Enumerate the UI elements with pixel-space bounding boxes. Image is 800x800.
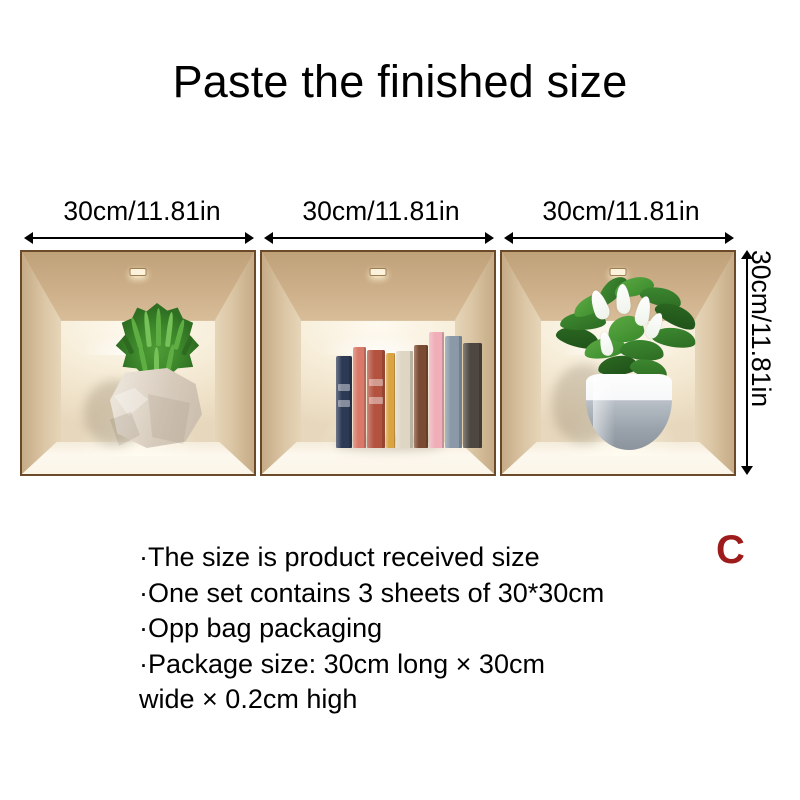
- book-spine-highlight: [414, 345, 419, 448]
- book-spine: [396, 351, 413, 448]
- book-spine-band: [338, 384, 351, 391]
- book-spine-highlight: [445, 336, 451, 448]
- width-arrow-panel-2: [264, 232, 494, 244]
- book-spine-highlight: [386, 353, 389, 448]
- note-line: wide × 0.2cm high: [139, 682, 739, 718]
- niche-floor: [22, 442, 254, 474]
- book-spine-edge: [459, 336, 462, 448]
- book-spine: [336, 356, 352, 448]
- book-spine: [353, 347, 366, 448]
- book-spine-edge: [410, 351, 413, 448]
- book-row: [262, 328, 494, 448]
- book-spine-band: [369, 397, 383, 404]
- niche-panel-3: [500, 250, 736, 476]
- width-arrow-panel-1: [24, 232, 254, 244]
- arrow-head-right-icon: [245, 232, 254, 244]
- product-size-infographic: Paste the finished size 30cm/11.81in 30c…: [0, 0, 800, 800]
- page-title: Paste the finished size: [0, 56, 800, 108]
- arrow-head-right-icon: [725, 232, 734, 244]
- book-spine-band: [338, 400, 351, 407]
- ceiling-spotlight-icon: [130, 268, 147, 276]
- width-label-panel-2: 30cm/11.81in: [259, 196, 503, 226]
- arrow-head-right-icon: [485, 232, 494, 244]
- book-spine: [414, 345, 428, 448]
- note-line: ·The size is product received size: [139, 540, 739, 576]
- niche-ceiling: [262, 252, 494, 321]
- book-spine-highlight: [353, 347, 358, 448]
- width-label-panel-3: 30cm/11.81in: [499, 196, 743, 226]
- book-spine-edge: [364, 347, 366, 448]
- note-line: ·Opp bag packaging: [139, 611, 739, 647]
- book-spine-edge: [394, 353, 395, 448]
- ceiling-spotlight-icon: [370, 268, 387, 276]
- ceiling-spotlight-icon: [610, 268, 627, 276]
- book-spine-edge: [442, 332, 444, 448]
- niche-panel-2: [260, 250, 496, 476]
- book-spine: [367, 350, 385, 448]
- book-spine-edge: [479, 343, 482, 448]
- book-spine: [445, 336, 462, 448]
- niche-panel-1: [20, 250, 256, 476]
- height-label: 30cm/11.81in: [746, 250, 776, 475]
- width-arrow-panel-3: [504, 232, 734, 244]
- arrow-shaft: [29, 237, 249, 239]
- arrow-shaft: [509, 237, 729, 239]
- book-spine-highlight: [429, 332, 435, 448]
- book-spine: [463, 343, 482, 448]
- note-line: ·One set contains 3 sheets of 30*30cm: [139, 576, 739, 612]
- book-spine-edge: [426, 345, 428, 448]
- variant-badge: C: [716, 528, 745, 572]
- note-line: ·Package size: 30cm long × 30cm: [139, 647, 739, 683]
- book-spine: [386, 353, 395, 448]
- arrow-shaft: [269, 237, 489, 239]
- peace-lily-foliage: [554, 276, 704, 388]
- book-spine-highlight: [463, 343, 470, 448]
- book-spine: [429, 332, 444, 448]
- width-label-panel-1: 30cm/11.81in: [20, 196, 264, 226]
- book-spine-highlight: [396, 351, 402, 448]
- book-spine-band: [369, 379, 383, 386]
- product-notes: ·The size is product received size·One s…: [139, 540, 739, 718]
